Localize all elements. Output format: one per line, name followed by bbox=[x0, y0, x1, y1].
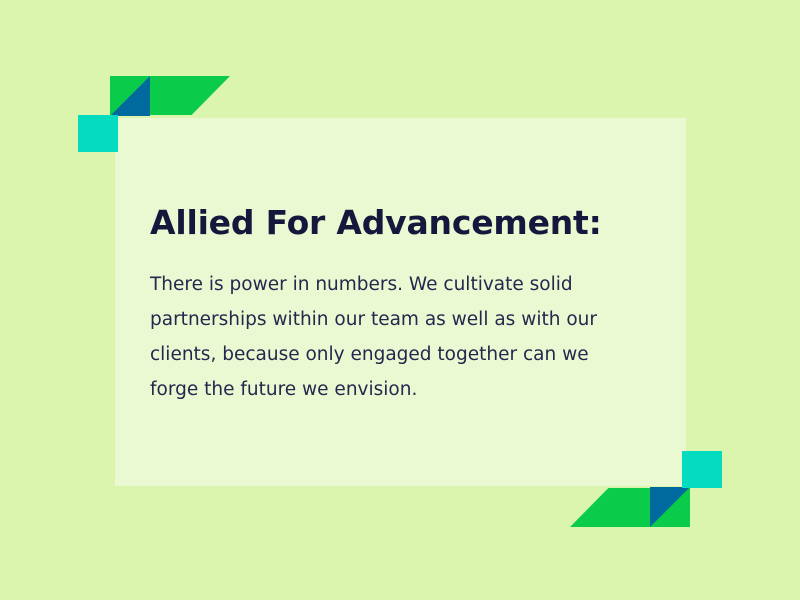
decoration-bottom-right bbox=[570, 451, 722, 527]
text-block: Allied For Advancement: There is power i… bbox=[150, 205, 650, 407]
slide-canvas: Allied For Advancement: There is power i… bbox=[0, 0, 800, 600]
cyan-square-icon bbox=[682, 451, 722, 488]
slide-title: Allied For Advancement: bbox=[150, 205, 650, 241]
slide-body-text: There is power in numbers. We cultivate … bbox=[150, 241, 640, 407]
cyan-square-icon bbox=[78, 115, 118, 152]
decoration-top-left bbox=[78, 76, 230, 152]
